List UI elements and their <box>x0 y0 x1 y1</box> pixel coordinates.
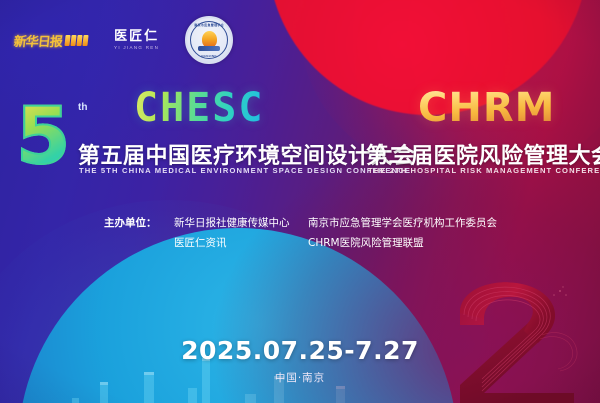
organizer-item: 医匠仁资讯 <box>174 233 308 253</box>
organizers-column-right: 南京市应急管理学会医疗机构工作委员会 CHRM医院风险管理联盟 <box>308 213 508 253</box>
conference-poster: 新华日报 医匠仁 YI JIANG REN 南京市应急管理学会 NANJING … <box>0 0 600 403</box>
organizers-label: 主办单位： <box>104 213 174 253</box>
emblem-base <box>198 46 220 51</box>
organizer-item: 南京市应急管理学会医疗机构工作委员会 <box>308 213 508 233</box>
xinhua-daily-logo: 新华日报 <box>13 31 89 50</box>
left-title-en: THE 5TH CHINA MEDICAL ENVIRONMENT SPACE … <box>79 166 411 175</box>
chrm-acronym: CHRM <box>418 88 555 128</box>
emblem-flame-icon <box>202 31 217 48</box>
organizers-section: 主办单位： 新华日报社健康传媒中心 医匠仁资讯 南京市应急管理学会医疗机构工作委… <box>104 213 508 253</box>
ordinal-suffix: th <box>78 102 87 113</box>
xinhua-logo-blocks <box>64 35 88 46</box>
emblem-bottom-text: NANJING <box>187 54 231 58</box>
organizers-column-left: 新华日报社健康传媒中心 医匠仁资讯 <box>174 213 308 253</box>
event-date-section: 2025.07.25-7.27 中国·南京 <box>0 336 600 385</box>
event-location: 中国·南京 <box>0 370 600 385</box>
xinhua-logo-label: 新华日报 <box>13 31 63 50</box>
yjr-logo-cn: 医匠仁 <box>114 30 159 43</box>
association-emblem: 南京市应急管理学会 NANJING <box>185 16 233 64</box>
right-title-en: THE 2TH HOSPITAL RISK MANAGEMENT CONFERE… <box>368 166 600 175</box>
chesc-acronym: CHESC <box>134 88 264 128</box>
yjr-logo-en: YI JIANG REN <box>114 46 159 51</box>
emblem-top-text: 南京市应急管理学会 <box>187 23 231 27</box>
yi-jiang-ren-logo: 医匠仁 YI JIANG REN <box>114 30 159 51</box>
event-date: 2025.07.25-7.27 <box>0 336 600 365</box>
organizer-item: 新华日报社健康传媒中心 <box>174 213 308 233</box>
organizer-item: CHRM医院风险管理联盟 <box>308 233 508 253</box>
sponsor-logo-bar: 新华日报 医匠仁 YI JIANG REN 南京市应急管理学会 NANJING <box>14 16 233 64</box>
